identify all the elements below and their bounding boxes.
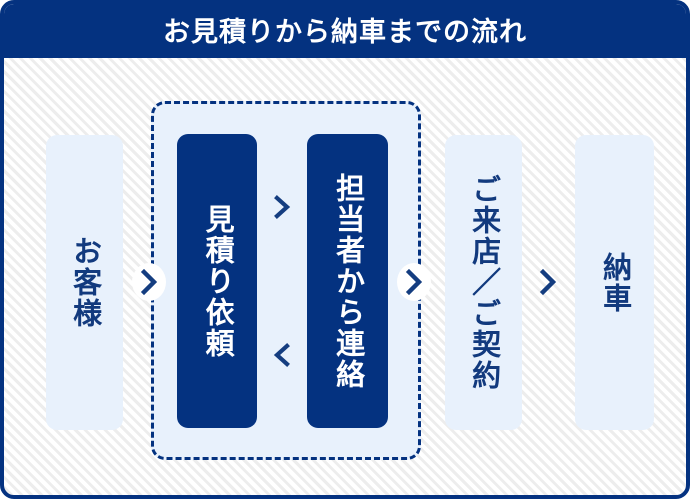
chevron-right-icon <box>533 265 563 299</box>
step-label-delivery: 納車 <box>595 252 633 314</box>
step-label-contact: 担当者から連絡 <box>328 173 366 390</box>
step-card-delivery[interactable]: 納車 <box>575 135 654 430</box>
step-card-contact[interactable]: 担当者から連絡 <box>307 134 388 428</box>
chevron-right-icon <box>399 265 429 299</box>
step-label-visit: ご来店／ご契約 <box>464 174 502 391</box>
step-card-estimate[interactable]: 見積り依頼 <box>177 134 257 428</box>
chevron-right-icon <box>267 190 297 224</box>
step-label-customer: お客様 <box>65 236 103 329</box>
chevron-right-icon <box>134 265 164 299</box>
step-label-estimate: 見積り依頼 <box>198 204 236 359</box>
step-card-visit[interactable]: ご来店／ご契約 <box>445 135 522 430</box>
diagram-header: お見積りから納車までの流れ <box>0 0 690 58</box>
chevron-left-icon <box>267 338 297 372</box>
page-title: お見積りから納車までの流れ <box>163 10 527 49</box>
flow-diagram-panel: お見積りから納車までの流れ お客様 見積り依頼 担当者から連絡 ご来店／ご契約 … <box>0 0 690 499</box>
step-card-customer[interactable]: お客様 <box>46 135 123 430</box>
